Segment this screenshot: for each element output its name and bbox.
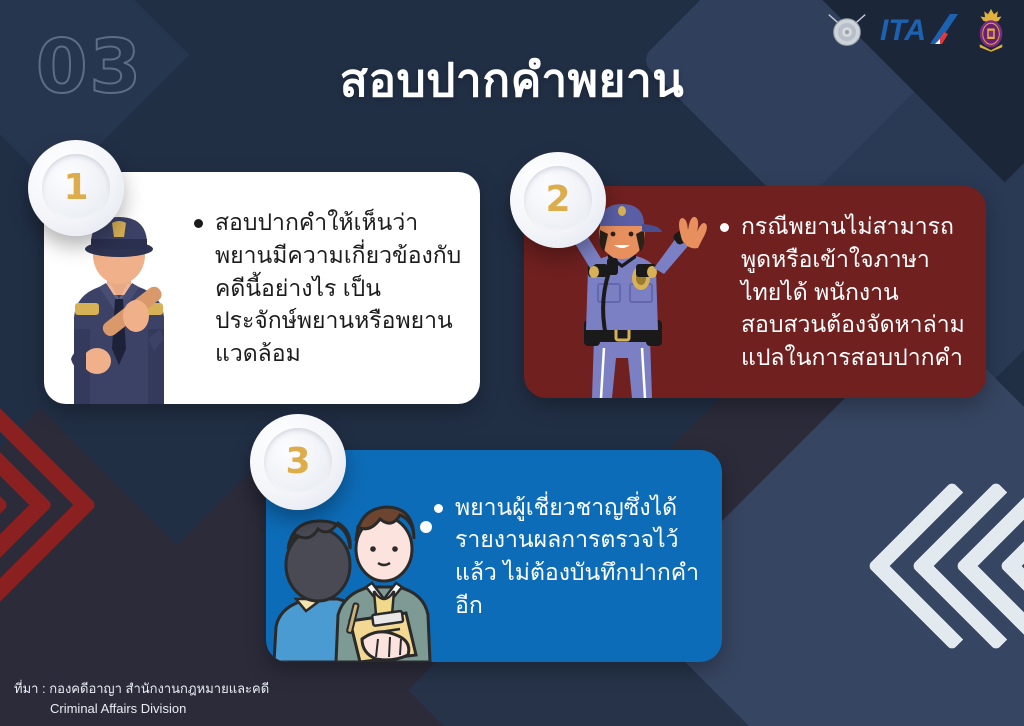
chevron-red: [0, 399, 97, 611]
card-2-body: กรณีพยานไม่สามารถพูดหรือเข้าใจภาษาไทยได้…: [720, 210, 986, 373]
police-emblem-icon: [826, 9, 868, 51]
ita-logo-icon: ITA: [880, 10, 964, 50]
chevron-light: [955, 481, 1024, 651]
ita-logo: ITA: [880, 9, 964, 51]
card-1-number: 1: [63, 170, 88, 206]
bullet-icon: [194, 219, 203, 228]
source-line-english: Criminal Affairs Division: [14, 699, 269, 719]
svg-text:ITA: ITA: [880, 14, 926, 47]
card-3-number-badge: 3: [250, 414, 346, 510]
chevron-red: [0, 399, 53, 611]
bullet-icon: [434, 504, 443, 513]
source-line-thai: ที่มา : กองคดีอาญา สำนักงานกฎหมายและคดี: [14, 679, 269, 699]
chevron-red: [0, 399, 9, 611]
card-1-text: สอบปากคำให้เห็นว่าพยานมีความเกี่ยวข้องกั…: [215, 206, 462, 369]
card-2-text: กรณีพยานไม่สามารถพูดหรือเข้าใจภาษาไทยได้…: [741, 210, 968, 373]
card-3-number: 3: [285, 444, 310, 480]
infographic-slide: 03 สอบปากคำพยาน ITA: [0, 0, 1024, 726]
chevron-light: [867, 481, 1024, 651]
card-1-number-badge: 1: [28, 140, 124, 236]
page-title: สอบปากคำพยาน: [0, 44, 1024, 117]
card-2-number-badge: 2: [510, 152, 606, 248]
source-footer: ที่มา : กองคดีอาญา สำนักงานกฎหมายและคดี …: [14, 679, 269, 718]
card-1-body: สอบปากคำให้เห็นว่าพยานมีความเกี่ยวข้องกั…: [194, 206, 480, 369]
chevron-light: [999, 481, 1024, 651]
card-3-text: พยานผู้เชี่ยวชาญซึ่งได้รายงานผลการตรวจไว…: [455, 491, 704, 622]
bullet-icon: [720, 223, 729, 232]
chevron-light: [911, 481, 1024, 651]
royal-emblem-icon: [976, 8, 1006, 52]
logo-bar: ITA: [826, 8, 1006, 52]
card-2-number: 2: [545, 182, 570, 218]
card-3-body: พยานผู้เชี่ยวชาญซึ่งได้รายงานผลการตรวจไว…: [434, 491, 722, 622]
interview-illustration-icon: [266, 487, 434, 662]
